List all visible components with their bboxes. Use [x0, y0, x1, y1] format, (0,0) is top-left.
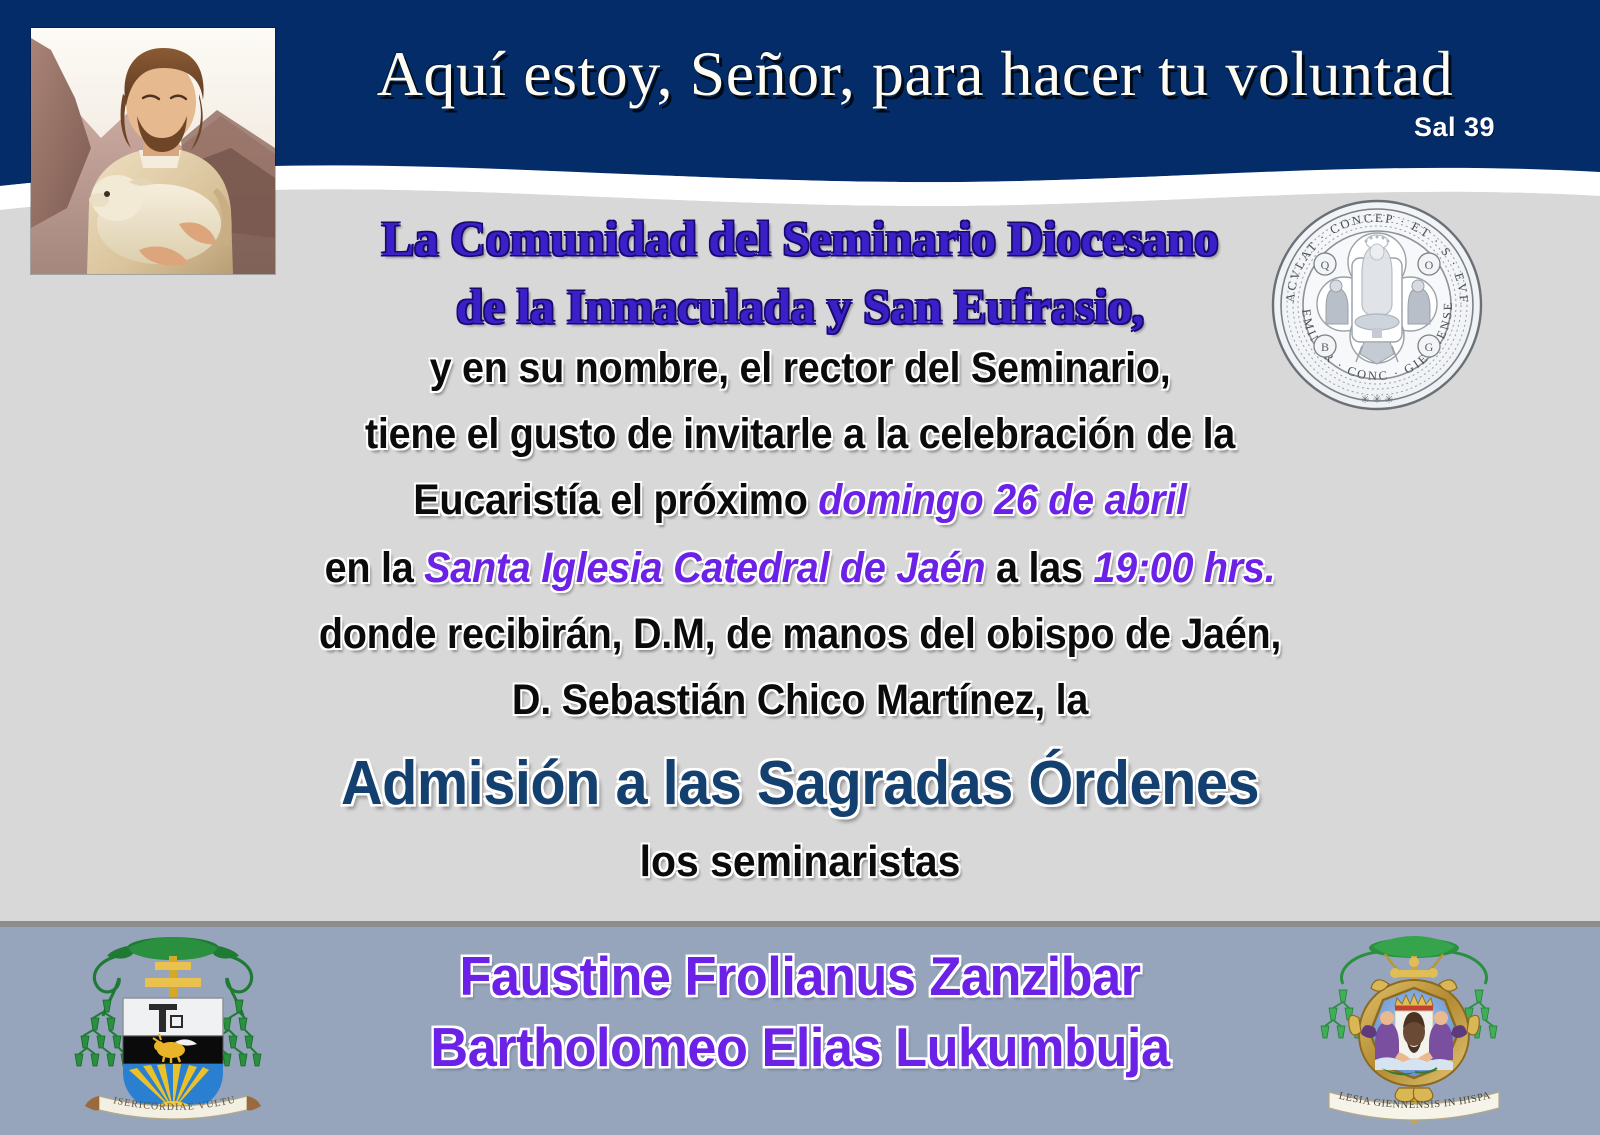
good-shepherd-image — [31, 28, 275, 274]
seminary-seal-icon: IMMACVLAT · CONCEP · ET · S · EVFRAS SEM… — [1268, 196, 1486, 414]
body-line-6: en la Santa Iglesia Catedral de Jaén a l… — [64, 544, 1536, 593]
header-title: Aquí estoy, Señor, para hacer tu volunta… — [300, 42, 1530, 106]
event-venue: Santa Iglesia Catedral de Jaén — [424, 544, 985, 592]
svg-text:Q: Q — [1321, 258, 1330, 272]
event-subline: los seminaristas — [56, 837, 1544, 887]
body-line-8: D. Sebastián Chico Martínez, la — [64, 676, 1536, 725]
body-line-6-pre: en la — [325, 544, 424, 592]
body-line-5: Eucaristía el próximo domingo 26 de abri… — [64, 476, 1536, 525]
seminarian-name-1: Faustine Frolianus Zanzibar — [297, 944, 1304, 1008]
scripture-reference: Sal 39 — [300, 112, 1495, 143]
body-line-6-mid: a las — [985, 544, 1093, 592]
seminarian-name-2: Bartholomeo Elias Lukumbuja — [297, 1015, 1304, 1079]
body-line-7: donde recibirán, D.M, de manos del obisp… — [64, 610, 1536, 659]
body-line-5-pre: Eucaristía el próximo — [413, 476, 818, 524]
svg-text:O: O — [1425, 258, 1434, 272]
svg-text:G: G — [1425, 340, 1434, 354]
event-headline: Admisión a las Sagradas Órdenes — [56, 748, 1544, 819]
event-date: domingo 26 de abril — [818, 476, 1186, 524]
event-time: 19:00 hrs. — [1093, 544, 1275, 592]
svg-text:✳ ✳ ✳: ✳ ✳ ✳ — [1360, 394, 1393, 406]
seminarian-names: Faustine Frolianus Zanzibar Bartholomeo … — [270, 927, 1330, 1135]
svg-text:B: B — [1321, 340, 1329, 354]
diocese-coat-of-arms-icon: ECCLESIA GIENNENSIS IN HISPANIA — [1303, 918, 1525, 1130]
bishop-coat-of-arms-icon: MISERICORDIAE VULTUS — [63, 920, 283, 1128]
invitation-poster: Aquí estoy, Señor, para hacer tu volunta… — [0, 0, 1600, 1135]
body-line-4: tiene el gusto de invitarle a la celebra… — [64, 410, 1536, 459]
